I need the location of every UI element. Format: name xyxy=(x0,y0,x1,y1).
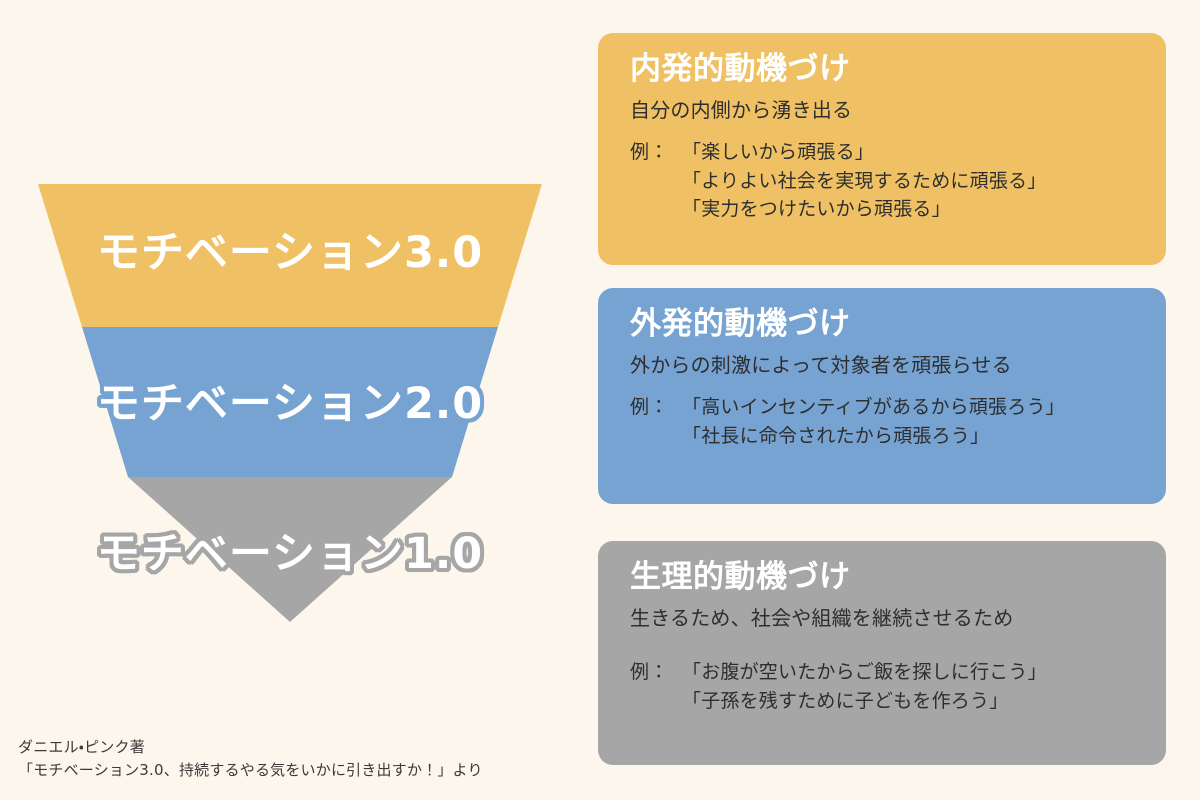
source-citation-title: 「モチベーション3.0、持続するやる気をいかに引き出すか！」より xyxy=(18,759,483,782)
example-prefix-label: 例： xyxy=(630,138,682,167)
card-example-item: 例： 「楽しいから頑張る」 xyxy=(630,138,1140,167)
card-example-item: 例： 「高いインセンティブがあるから頑張ろう」 xyxy=(630,393,1140,422)
example-prefix-label: 例： xyxy=(630,658,682,687)
motivation-cards-panel: 内発的動機づけ 自分の内側から湧き出る 例： 「楽しいから頑張る」 例： 「より… xyxy=(598,0,1168,800)
funnel-diagram-panel: モチベーション3.0 モチベーション2.0 モチベーション1.0 ダニエル・ピン… xyxy=(0,0,580,800)
card-description: 外からの刺激によって対象者を頑張らせる xyxy=(630,352,1140,379)
example-text: 「子孫を残すために子どもを作ろう」 xyxy=(682,687,1008,716)
funnel-label-level1: モチベーション1.0 xyxy=(0,533,580,576)
example-prefix-label: 例： xyxy=(630,393,682,422)
card-examples-list: 例： 「お腹が空いたからご飯を探しに行こう」 例： 「子孫を残すために子どもを作… xyxy=(630,658,1140,715)
card-example-item: 例： 「よりよい社会を実現するために頑張る」 xyxy=(630,167,1140,196)
card-example-item: 例： 「子孫を残すために子どもを作ろう」 xyxy=(630,687,1140,716)
source-citation: ダニエル・ピンク著 「モチベーション3.0、持続するやる気をいかに引き出すか！」… xyxy=(18,736,483,783)
funnel-label-level1-text: モチベーション1.0 xyxy=(97,533,483,576)
funnel-label-level2-text: モチベーション2.0 xyxy=(97,383,483,426)
card-description: 生きるため、社会や組織を継続させるため xyxy=(630,605,1140,632)
card-description: 自分の内側から湧き出る xyxy=(630,97,1140,124)
example-text: 「よりよい社会を実現するために頑張る」 xyxy=(682,167,1046,196)
card-examples-list: 例： 「楽しいから頑張る」 例： 「よりよい社会を実現するために頑張る」 例： … xyxy=(630,138,1140,224)
card-title: 生理的動機づけ xyxy=(630,559,1140,596)
funnel-label-level2: モチベーション2.0 xyxy=(0,383,580,426)
card-example-item: 例： 「社長に命令されたから頑張ろう」 xyxy=(630,422,1140,451)
card-example-item: 例： 「実力をつけたいから頑張る」 xyxy=(630,195,1140,224)
funnel-chart xyxy=(0,0,580,700)
funnel-label-level3-text: モチベーション3.0 xyxy=(97,232,483,275)
example-text: 「実力をつけたいから頑張る」 xyxy=(682,195,951,224)
card-title: 内発的動機づけ xyxy=(630,51,1140,88)
example-text: 「高いインセンティブがあるから頑張ろう」 xyxy=(682,393,1065,422)
card-extrinsic-motivation: 外発的動機づけ 外からの刺激によって対象者を頑張らせる 例： 「高いインセンティ… xyxy=(598,288,1166,504)
card-examples-list: 例： 「高いインセンティブがあるから頑張ろう」 例： 「社長に命令されたから頑張… xyxy=(630,393,1140,450)
example-text: 「楽しいから頑張る」 xyxy=(682,138,874,167)
card-title: 外発的動機づけ xyxy=(630,306,1140,343)
example-text: 「社長に命令されたから頑張ろう」 xyxy=(682,422,989,451)
card-example-item: 例： 「お腹が空いたからご飯を探しに行こう」 xyxy=(630,658,1140,687)
example-text: 「お腹が空いたからご飯を探しに行こう」 xyxy=(682,658,1047,687)
funnel-label-level3: モチベーション3.0 xyxy=(0,232,580,275)
card-physiological-motivation: 生理的動機づけ 生きるため、社会や組織を継続させるため 例： 「お腹が空いたから… xyxy=(598,541,1166,765)
source-citation-author: ダニエル・ピンク著 xyxy=(18,736,483,759)
card-intrinsic-motivation: 内発的動機づけ 自分の内側から湧き出る 例： 「楽しいから頑張る」 例： 「より… xyxy=(598,33,1166,265)
